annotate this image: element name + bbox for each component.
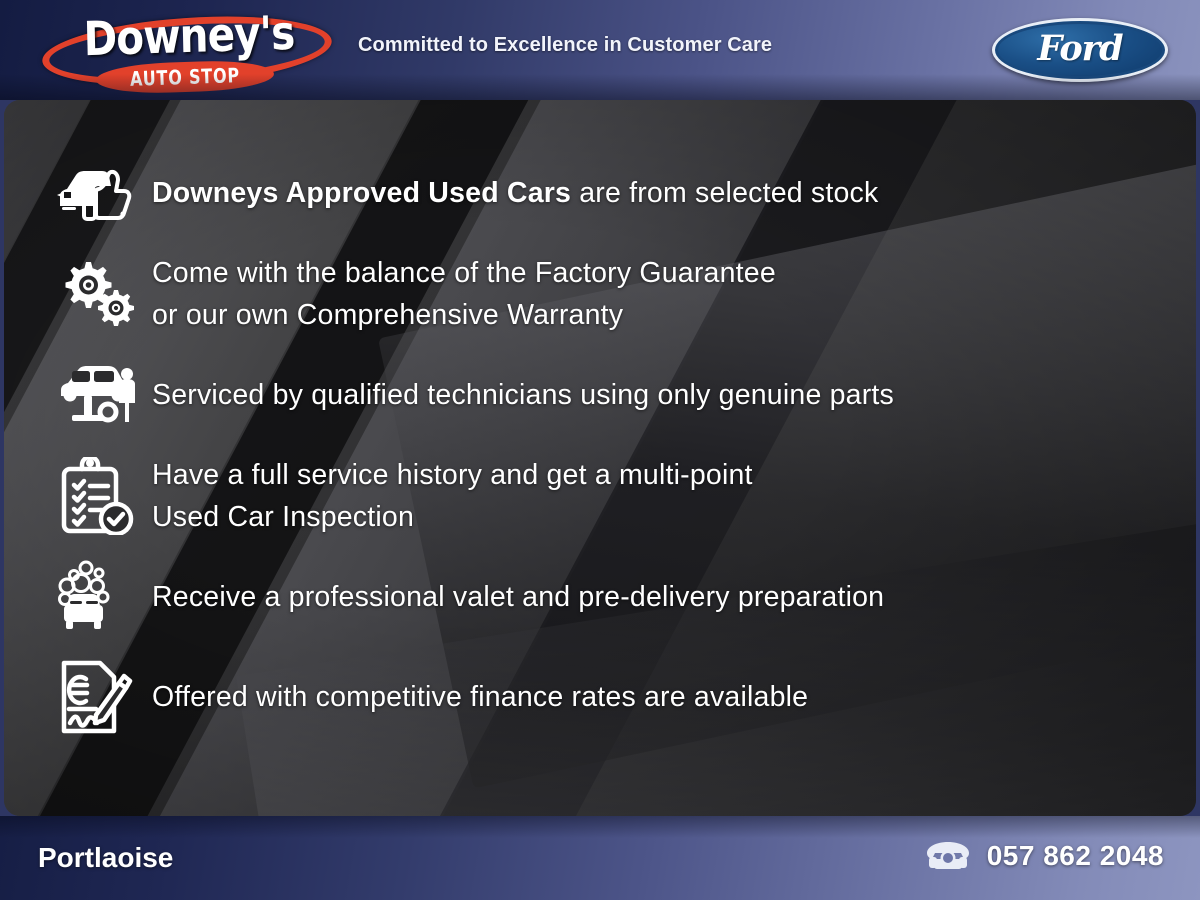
euro-document-pen-icon <box>56 657 152 737</box>
feature-item: Have a full service history and get a mu… <box>56 454 1156 538</box>
ford-logo[interactable]: Ford <box>992 18 1168 82</box>
feature-regular-text: are from selected stock <box>571 177 878 209</box>
header-bar: Downey's AUTO STOP Committed to Excellen… <box>0 0 1200 100</box>
feature-line-1: Come with the balance of the Factory Gua… <box>152 252 776 294</box>
telephone-icon <box>925 840 971 872</box>
clipboard-checklist-icon <box>56 457 152 535</box>
logo-autostop-pill: AUTO STOP <box>96 59 275 95</box>
feature-line-1: Receive a professional valet and pre-del… <box>152 576 884 618</box>
car-lift-technician-icon <box>56 362 152 428</box>
feature-text: Have a full service history and get a mu… <box>152 454 753 538</box>
phone-contact[interactable]: 057 862 2048 <box>925 840 1164 872</box>
promo-banner: Downey's AUTO STOP Committed to Excellen… <box>0 0 1200 900</box>
logo-brand-word: Downey's <box>72 4 305 69</box>
ford-wordmark: Ford <box>992 18 1168 82</box>
feature-text: Come with the balance of the Factory Gua… <box>152 252 776 336</box>
feature-line-1: Offered with competitive finance rates a… <box>152 676 808 718</box>
feature-item: Serviced by qualified technicians using … <box>56 354 1156 436</box>
gears-icon <box>56 258 152 330</box>
footer-bar: Portlaoise 057 862 2048 <box>0 816 1200 900</box>
feature-line-2: Used Car Inspection <box>152 496 753 538</box>
feature-text: Serviced by qualified technicians using … <box>152 374 894 416</box>
feature-text: Receive a professional valet and pre-del… <box>152 576 884 618</box>
feature-item: Come with the balance of the Factory Gua… <box>56 252 1156 336</box>
feature-line-1: Have a full service history and get a mu… <box>152 454 753 496</box>
feature-list: Downeys Approved Used Cars are from sele… <box>4 100 1196 816</box>
feature-item: Downeys Approved Used Cars are from sele… <box>56 152 1156 234</box>
feature-line-1: Serviced by qualified technicians using … <box>152 374 894 416</box>
car-wash-icon <box>56 559 152 635</box>
feature-item: Receive a professional valet and pre-del… <box>56 556 1156 638</box>
car-thumbs-up-icon <box>56 162 152 224</box>
feature-bold-text: Downeys Approved Used Cars <box>152 177 571 209</box>
feature-item: Offered with competitive finance rates a… <box>56 656 1156 738</box>
downeys-auto-stop-logo[interactable]: Downey's AUTO STOP <box>34 6 334 96</box>
phone-number: 057 862 2048 <box>987 840 1164 872</box>
feature-line-2: or our own Comprehensive Warranty <box>152 294 776 336</box>
feature-text: Downeys Approved Used Cars are from sele… <box>152 172 878 214</box>
feature-text: Offered with competitive finance rates a… <box>152 676 808 718</box>
branch-location: Portlaoise <box>38 842 173 874</box>
header-tagline: Committed to Excellence in Customer Care <box>358 34 772 57</box>
features-panel: Downeys Approved Used Cars are from sele… <box>4 100 1196 816</box>
logo-sub-word: AUTO STOP <box>113 60 256 95</box>
